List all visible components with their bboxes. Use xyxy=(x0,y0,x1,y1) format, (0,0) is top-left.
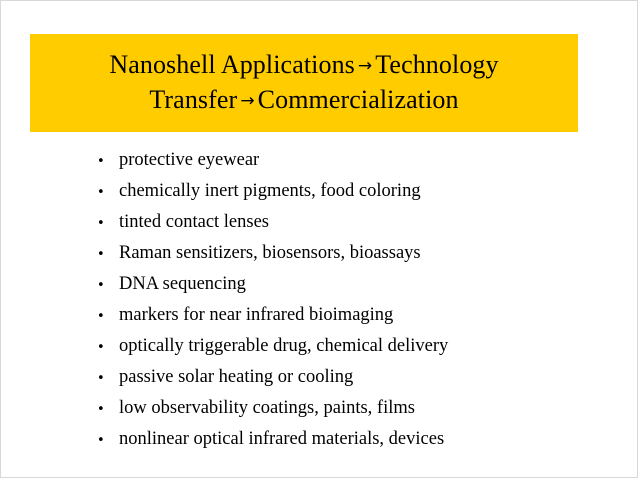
list-item: •nonlinear optical infrared materials, d… xyxy=(97,424,597,455)
list-item: •protective eyewear xyxy=(97,145,597,176)
list-item-label: DNA sequencing xyxy=(119,269,246,300)
list-item: •optically triggerable drug, chemical de… xyxy=(97,331,597,362)
list-item: •chemically inert pigments, food colorin… xyxy=(97,176,597,207)
bullet-point-icon: • xyxy=(97,394,119,425)
bullet-list: •protective eyewear•chemically inert pig… xyxy=(97,145,597,455)
title-banner: Nanoshell Applications→Technology Transf… xyxy=(30,34,578,132)
list-item: •DNA sequencing xyxy=(97,269,597,300)
bullet-point-icon: • xyxy=(97,177,119,208)
title-line-2-text-a: Transfer xyxy=(149,85,237,114)
title-line-2-text-b: Commercialization xyxy=(258,85,459,114)
list-item: •markers for near infrared bioimaging xyxy=(97,300,597,331)
list-item-label: protective eyewear xyxy=(119,145,259,176)
list-item-label: chemically inert pigments, food coloring xyxy=(119,176,421,207)
arrow-right-icon: → xyxy=(237,91,257,111)
list-item: •tinted contact lenses xyxy=(97,207,597,238)
bullet-point-icon: • xyxy=(97,363,119,394)
bullet-point-icon: • xyxy=(97,208,119,239)
bullet-point-icon: • xyxy=(97,425,119,456)
arrow-right-icon: → xyxy=(355,56,375,76)
list-item: •passive solar heating or cooling xyxy=(97,362,597,393)
list-item-label: nonlinear optical infrared materials, de… xyxy=(119,424,444,455)
bullet-point-icon: • xyxy=(97,301,119,332)
slide-canvas: Nanoshell Applications→Technology Transf… xyxy=(0,0,638,478)
list-item-label: passive solar heating or cooling xyxy=(119,362,353,393)
list-item: •Raman sensitizers, biosensors, bioassay… xyxy=(97,238,597,269)
title-line-1-text-b: Technology xyxy=(375,50,498,79)
list-item: •low observability coatings, paints, fil… xyxy=(97,393,597,424)
list-item-label: optically triggerable drug, chemical del… xyxy=(119,331,448,362)
list-item-label: tinted contact lenses xyxy=(119,207,269,238)
list-item-label: Raman sensitizers, biosensors, bioassays xyxy=(119,238,421,269)
title-line-2: Transfer→Commercialization xyxy=(149,83,458,118)
list-item-label: low observability coatings, paints, film… xyxy=(119,393,415,424)
bullet-point-icon: • xyxy=(97,332,119,363)
bullet-point-icon: • xyxy=(97,270,119,301)
bullet-point-icon: • xyxy=(97,146,119,177)
title-line-1-text-a: Nanoshell Applications xyxy=(109,50,355,79)
title-line-1: Nanoshell Applications→Technology xyxy=(109,48,498,83)
bullet-point-icon: • xyxy=(97,239,119,270)
list-item-label: markers for near infrared bioimaging xyxy=(119,300,393,331)
